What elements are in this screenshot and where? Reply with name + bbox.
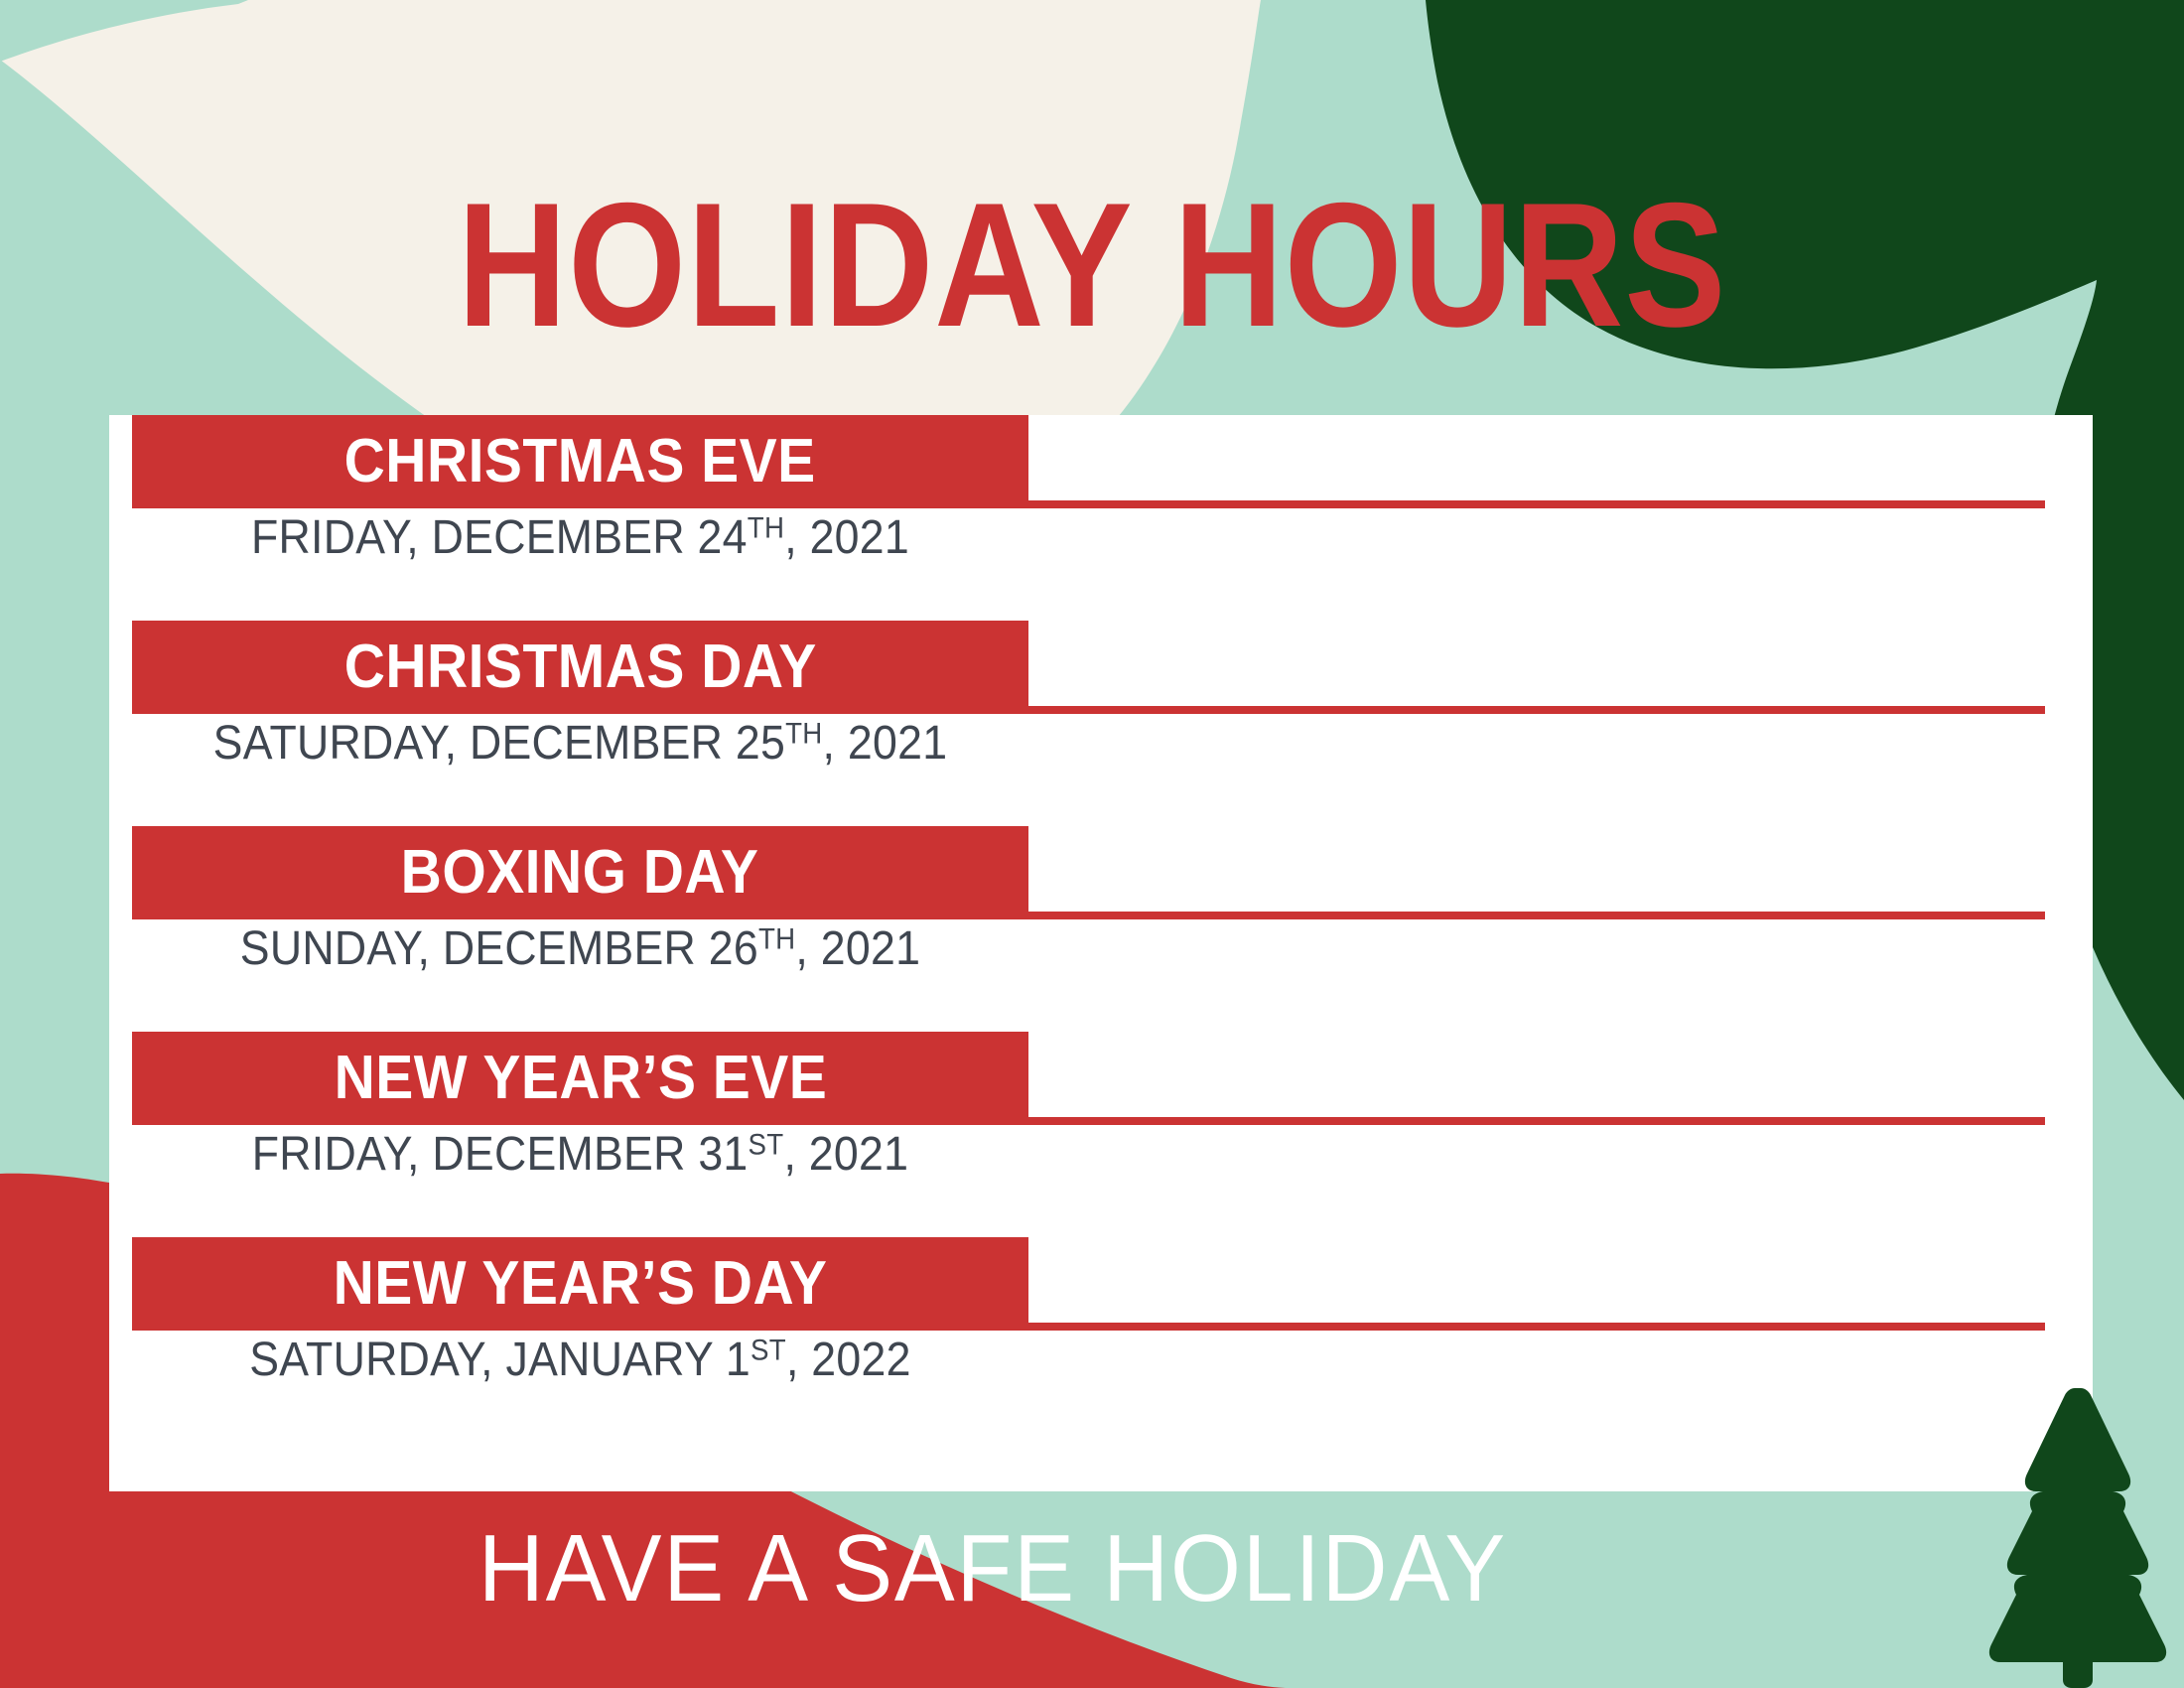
holiday-date-prefix: SATURDAY, DECEMBER 25: [213, 717, 785, 770]
holiday-date-ordinal: ST: [749, 1129, 784, 1162]
holiday-date-prefix: FRIDAY, DECEMBER 24: [251, 511, 748, 564]
holiday-banner-wrap: NEW YEAR’S EVE: [109, 1032, 2093, 1125]
holiday-date: SUNDAY, DECEMBER 26TH, 2021: [164, 925, 998, 973]
holiday-date-suffix: , 2021: [783, 1128, 908, 1181]
table-row: NEW YEAR’S EVE FRIDAY, DECEMBER 31ST, 20…: [109, 1032, 2093, 1125]
hours-blank-rule: [1028, 706, 2045, 714]
holiday-date: SATURDAY, DECEMBER 25TH, 2021: [164, 720, 998, 768]
holiday-date-ordinal: TH: [785, 718, 822, 751]
holiday-date-prefix: FRIDAY, DECEMBER 31: [252, 1128, 749, 1181]
holiday-banner-wrap: BOXING DAY: [109, 826, 2093, 919]
holiday-date: SATURDAY, JANUARY 1ST, 2022: [164, 1336, 998, 1384]
holiday-banner: NEW YEAR’S DAY: [132, 1237, 1028, 1331]
holiday-name: NEW YEAR’S DAY: [334, 1253, 828, 1315]
holiday-hours-poster: HOLIDAY HOURS CHRISTMAS EVE FRIDAY, DECE…: [0, 0, 2184, 1688]
holiday-date-ordinal: ST: [751, 1335, 786, 1367]
holiday-date-suffix: , 2021: [795, 922, 920, 975]
table-row: CHRISTMAS EVE FRIDAY, DECEMBER 24TH, 202…: [109, 415, 2093, 508]
holiday-date-ordinal: TH: [748, 512, 784, 545]
holiday-name: CHRISTMAS EVE: [344, 431, 816, 492]
tagline: HAVE A SAFE HOLIDAY: [50, 1521, 1936, 1617]
holiday-date-ordinal: TH: [758, 923, 795, 956]
holiday-name: CHRISTMAS DAY: [343, 636, 816, 698]
holiday-banner-wrap: NEW YEAR’S DAY: [109, 1237, 2093, 1331]
hours-blank-rule: [1028, 500, 2045, 508]
page-title: HOLIDAY HOURS: [153, 177, 2031, 353]
holiday-banner-wrap: CHRISTMAS EVE: [109, 415, 2093, 508]
holiday-date: FRIDAY, DECEMBER 24TH, 2021: [164, 514, 998, 562]
hours-blank-rule: [1028, 1323, 2045, 1331]
holiday-date-suffix: , 2022: [786, 1334, 911, 1386]
christmas-tree-icon: [1972, 1382, 2184, 1688]
holiday-banner: NEW YEAR’S EVE: [132, 1032, 1028, 1125]
holiday-date-suffix: , 2021: [823, 717, 948, 770]
hours-blank-rule: [1028, 1117, 2045, 1125]
holiday-date-suffix: , 2021: [784, 511, 909, 564]
holiday-name: BOXING DAY: [401, 842, 759, 904]
holiday-banner: CHRISTMAS DAY: [132, 621, 1028, 714]
holiday-date: FRIDAY, DECEMBER 31ST, 2021: [164, 1131, 998, 1179]
holiday-date-prefix: SUNDAY, DECEMBER 26: [240, 922, 758, 975]
table-row: CHRISTMAS DAY SATURDAY, DECEMBER 25TH, 2…: [109, 621, 2093, 714]
holiday-name: NEW YEAR’S EVE: [334, 1048, 827, 1109]
hours-blank-rule: [1028, 912, 2045, 919]
holiday-banner: CHRISTMAS EVE: [132, 415, 1028, 508]
hours-card: CHRISTMAS EVE FRIDAY, DECEMBER 24TH, 202…: [109, 415, 2093, 1491]
holiday-banner-wrap: CHRISTMAS DAY: [109, 621, 2093, 714]
holiday-banner: BOXING DAY: [132, 826, 1028, 919]
table-row: NEW YEAR’S DAY SATURDAY, JANUARY 1ST, 20…: [109, 1237, 2093, 1331]
table-row: BOXING DAY SUNDAY, DECEMBER 26TH, 2021: [109, 826, 2093, 919]
holiday-date-prefix: SATURDAY, JANUARY 1: [249, 1334, 751, 1386]
